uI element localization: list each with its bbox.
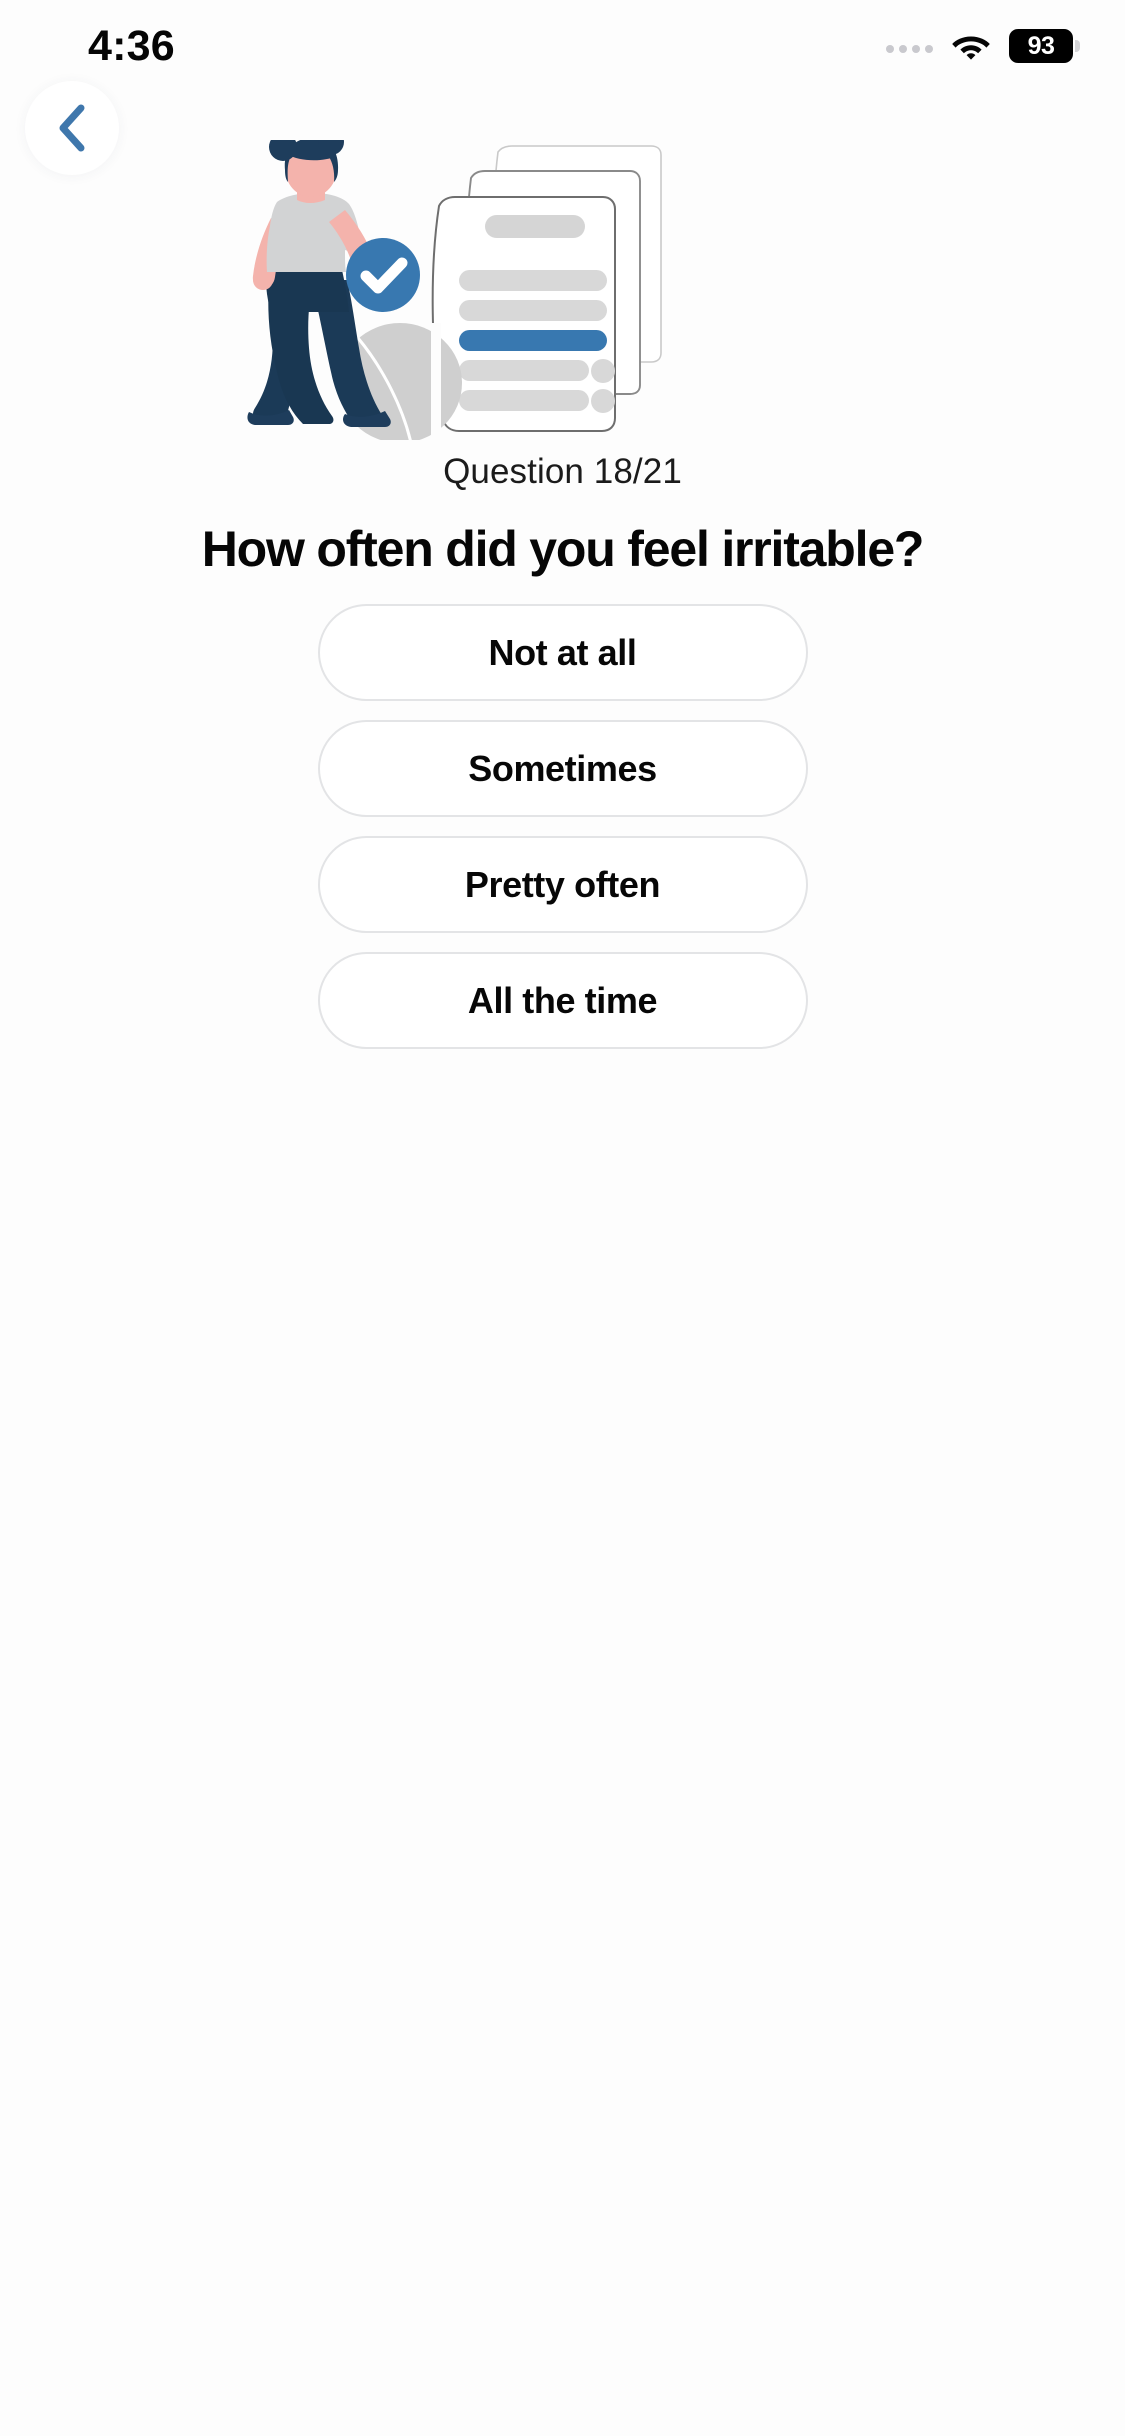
answer-option-sometimes[interactable]: Sometimes	[318, 720, 808, 817]
cellular-dots-icon	[886, 39, 933, 53]
paper-line-2	[459, 300, 607, 321]
battery-level-label: 93	[1028, 34, 1055, 59]
paper-line-highlight	[459, 330, 607, 351]
battery-icon: 93	[1009, 29, 1073, 63]
answer-option-pretty-often[interactable]: Pretty often	[318, 836, 808, 933]
paper-dot-1	[591, 359, 615, 383]
answer-option-all-the-time[interactable]: All the time	[318, 952, 808, 1049]
paper-line-3	[459, 360, 589, 381]
answer-options-list: Not at all Sometimes Pretty often All th…	[0, 604, 1125, 1068]
answer-option-label: Not at all	[488, 632, 636, 674]
paper-dot-2	[591, 389, 615, 413]
answer-option-label: All the time	[468, 980, 657, 1022]
illustration-artwork	[233, 140, 893, 440]
paper-line-4	[459, 390, 589, 411]
question-title: How often did you feel irritable?	[0, 519, 1125, 579]
question-counter: Question 18/21	[0, 452, 1125, 492]
survey-illustration	[0, 140, 1125, 440]
wifi-icon	[951, 31, 991, 61]
app-screen: 4:36 93	[0, 0, 1125, 2436]
paper-line-1	[459, 270, 607, 291]
check-badge-icon	[346, 238, 420, 312]
answer-option-label: Pretty often	[465, 864, 660, 906]
paper-line-title	[485, 215, 585, 238]
answer-option-label: Sometimes	[468, 748, 656, 790]
status-bar: 4:36 93	[0, 0, 1125, 90]
status-bar-indicators: 93	[886, 26, 1073, 66]
status-bar-time: 4:36	[88, 22, 175, 71]
answer-option-not-at-all[interactable]: Not at all	[318, 604, 808, 701]
